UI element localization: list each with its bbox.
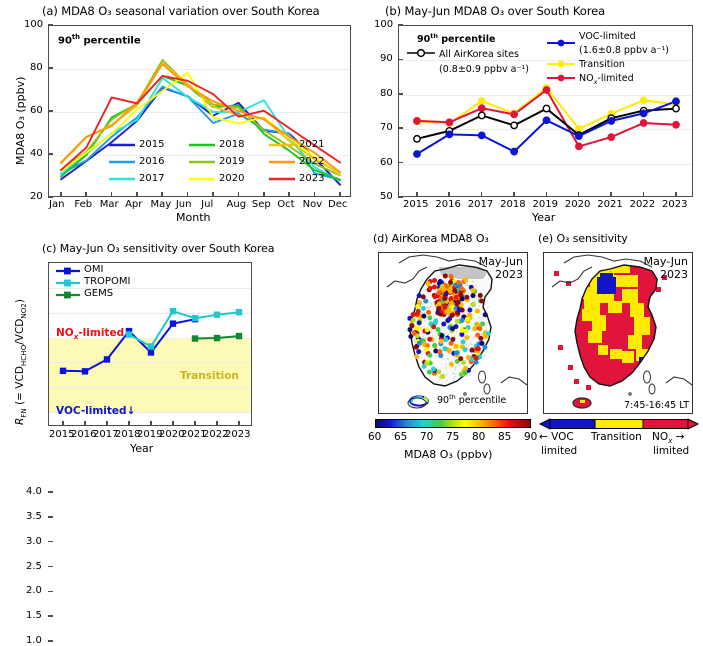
- panel-b-xtick: 2016: [435, 199, 460, 210]
- panel-b-ytick: 90: [380, 53, 393, 64]
- legend-label-tropomi: TROPOMI: [84, 276, 130, 287]
- panel-a-xtick: Mar: [100, 199, 119, 210]
- panel-c-xtick-mark: [194, 421, 196, 426]
- panel-e-colorbar: [540, 419, 698, 429]
- panel-c-xtick-mark: [62, 421, 64, 426]
- panel-a-ytick-mark: [48, 24, 53, 26]
- panel-b-title: (b) May-Jun MDA8 O₃ over South Korea: [385, 4, 605, 18]
- panel-b-xtick-mark: [675, 192, 677, 197]
- panel-a-xtick-mark: [60, 192, 62, 197]
- panel-c-xtick-mark: [150, 421, 152, 426]
- panel-c-ytick-mark: [48, 566, 53, 568]
- panel-e-colorbar-left-label2: limited: [541, 445, 577, 457]
- panel-b-xtick: 2018: [500, 199, 525, 210]
- panel-a-ytick-mark: [48, 196, 53, 198]
- panel-c-ytick: 2.5: [26, 561, 42, 572]
- legend-label-2023: 2023: [299, 173, 324, 184]
- panel-b-xtick: 2022: [630, 199, 655, 210]
- panel-d-colorbar-tick: 65: [394, 431, 407, 443]
- panel-a-xtick: Jun: [176, 199, 192, 210]
- legend-label-gems: GEMS: [84, 288, 113, 299]
- panel-d-map: May-Jun 2023 90th percentile: [378, 252, 528, 414]
- panel-a-ytick: 100: [24, 19, 43, 30]
- panel-e-colorbar-right-label: NOx →: [652, 431, 684, 445]
- panel-c-xtick-mark: [216, 421, 218, 426]
- panel-c-ylabel: RFN (= VCDHCHO/VCDNO2): [14, 299, 28, 425]
- panel-d-period: May-Jun: [479, 255, 523, 268]
- panel-a-ytick-mark: [48, 67, 53, 69]
- panel-d-inset-label: 90th percentile: [437, 393, 506, 406]
- panel-a-xtick-mark: [85, 192, 87, 197]
- panel-c-xlabel: Year: [130, 442, 153, 455]
- legend-label-2015: 2015: [139, 139, 164, 150]
- panel-a-title: (a) MDA8 O₃ seasonal variation over Sout…: [42, 4, 320, 18]
- panel-a-xtick: May: [150, 199, 171, 210]
- panel-a-xlabel: Month: [176, 211, 210, 224]
- panel-c-ytick: 2.0: [26, 585, 42, 596]
- panel-b-xtick-mark: [546, 192, 548, 197]
- panel-c-xtick-mark: [128, 421, 130, 426]
- panel-a-xtick: Aug: [227, 199, 247, 210]
- panel-b-ytick: 50: [380, 191, 393, 202]
- panel-d-colorbar-tick: 80: [472, 431, 485, 443]
- panel-c-plot-area: NOx-limited↑ VOC-limited↓ Transition OMI…: [48, 262, 252, 426]
- panel-e-colorbar-mid-label: Transition: [591, 431, 642, 443]
- panel-a-ytick: 20: [30, 191, 43, 202]
- panel-d: (d) AirKorea MDA8 O₃ May-Jun 2023 90th p…: [370, 230, 535, 469]
- panel-b-ytick: 70: [380, 122, 393, 133]
- panel-a-xtick-mark: [288, 192, 290, 197]
- panel-a-ytick: 40: [30, 148, 43, 159]
- panel-d-colorbar-tick: 70: [420, 431, 433, 443]
- panel-d-year: 2023: [495, 268, 523, 281]
- panel-b-xtick-mark: [578, 192, 580, 197]
- panel-b-ytick-mark: [398, 162, 403, 164]
- legend-label-2022: 2022: [299, 156, 324, 167]
- panel-a-xtick: Oct: [277, 199, 294, 210]
- panel-b-xtick-mark: [448, 192, 450, 197]
- panel-b-xtick-mark: [610, 192, 612, 197]
- legend-label-2021: 2021: [299, 139, 324, 150]
- panel-e-colorbar-right-label2: limited: [653, 445, 689, 457]
- panel-a-xtick: Dec: [328, 199, 347, 210]
- panel-a-xtick-mark: [111, 192, 113, 197]
- panel-b-plot-area: 90th percentile All AirKorea sites (0.8±…: [398, 25, 693, 197]
- panel-c-xtick-mark: [84, 421, 86, 426]
- panel-c-xtick-mark: [172, 421, 174, 426]
- panel-b-xtick: 2021: [597, 199, 622, 210]
- legend-label-2019: 2019: [219, 156, 244, 167]
- panel-d-colorbar-tick: 60: [368, 431, 381, 443]
- panel-c-ytick: 3.0: [26, 536, 42, 547]
- panel-a-xtick-mark: [161, 192, 163, 197]
- panel-a-xtick-mark: [238, 192, 240, 197]
- panel-b-lines: [399, 26, 694, 198]
- panel-c-ytick: 4.0: [26, 486, 42, 497]
- panel-c-ytick-mark: [48, 640, 53, 642]
- panel-a-xtick-mark: [263, 192, 265, 197]
- panel-a-plot-area: 90th percentile 2015 2016 2017 2018 2019…: [48, 25, 351, 197]
- panel-b-ytick: 100: [374, 19, 393, 30]
- panel-b-xtick: 2017: [468, 199, 493, 210]
- panel-c-ytick-mark: [48, 541, 53, 543]
- legend-label-2017: 2017: [139, 173, 164, 184]
- panel-b-ytick-mark: [398, 127, 403, 129]
- panel-c-ytick: 1.0: [26, 635, 42, 646]
- panel-a-ytick-mark: [48, 153, 53, 155]
- panel-e-colorbar-left-label: ← VOC: [539, 431, 574, 443]
- panel-a-xtick: Jan: [49, 199, 64, 210]
- panel-e-title: (e) O₃ sensitivity: [538, 232, 628, 245]
- panel-b: (b) May-Jun MDA8 O₃ over South Korea 90t…: [360, 0, 703, 230]
- panel-c-xtick: 2023: [225, 429, 250, 440]
- panel-b-xtick: 2015: [403, 199, 428, 210]
- panel-e-period: May-Jun: [644, 255, 688, 268]
- panel-a-xtick: Apr: [125, 199, 142, 210]
- panel-b-xtick-mark: [416, 192, 418, 197]
- panel-b-ytick-mark: [398, 196, 403, 198]
- panel-a-xtick: Feb: [74, 199, 92, 210]
- panel-b-ytick: 60: [380, 157, 393, 168]
- legend-label-2020: 2020: [219, 173, 244, 184]
- panel-b-xtick: 2019: [533, 199, 558, 210]
- panel-d-title: (d) AirKorea MDA8 O₃: [373, 232, 489, 245]
- panel-c-ytick-mark: [48, 615, 53, 617]
- panel-b-xtick-mark: [513, 192, 515, 197]
- panel-a-ytick: 60: [30, 105, 43, 116]
- panel-c-ytick: 1.5: [26, 610, 42, 621]
- panel-b-ytick-mark: [398, 24, 403, 26]
- panel-c-xtick-mark: [238, 421, 240, 426]
- panel-c-ytick-mark: [48, 516, 53, 518]
- legend-label-2016: 2016: [139, 156, 164, 167]
- panel-d-colorbar: [375, 419, 531, 428]
- panel-a-xtick-mark: [339, 192, 341, 197]
- panel-a-xtick-mark: [187, 192, 189, 197]
- legend-label-2018: 2018: [219, 139, 244, 150]
- panel-a-ylabel: MDA8 O₃ (ppbv): [14, 77, 27, 165]
- panel-a-legend: 2015 2016 2017 2018 2019 2020 2021 2022 …: [109, 139, 344, 191]
- panel-a-xtick-mark: [314, 192, 316, 197]
- legend-label-omi: OMI: [84, 264, 103, 275]
- panel-e-year: 2023: [660, 268, 688, 281]
- panel-c-ytick-mark: [48, 591, 53, 593]
- panel-e: (e) O₃ sensitivity May-Jun 2023 7:45-16:…: [535, 230, 703, 469]
- panel-b-xtick-mark: [481, 192, 483, 197]
- panel-c-title: (c) May-Jun O₃ sensitivity over South Ko…: [42, 242, 274, 255]
- panel-a: (a) MDA8 O₃ seasonal variation over Sout…: [0, 0, 360, 230]
- panel-c-ytick: 3.5: [26, 511, 42, 522]
- panel-b-ytick-mark: [398, 93, 403, 95]
- panel-d-colorbar-label: MDA8 O₃ (ppbv): [404, 448, 492, 461]
- panel-e-map: May-Jun 2023 7:45-16:45 LT: [543, 252, 693, 414]
- panel-b-xlabel: Year: [532, 211, 555, 224]
- panel-a-xtick: Nov: [303, 199, 323, 210]
- panel-c-xtick-mark: [106, 421, 108, 426]
- panel-a-ytick-mark: [48, 110, 53, 112]
- panel-a-xtick: Jul: [201, 199, 213, 210]
- panel-a-xtick-mark: [136, 192, 138, 197]
- panel-b-xtick-mark: [643, 192, 645, 197]
- panel-a-xtick: Sep: [252, 199, 271, 210]
- panel-a-ytick: 80: [30, 62, 43, 73]
- panel-e-time-label: 7:45-16:45 LT: [624, 400, 689, 411]
- panel-b-xtick: 2023: [662, 199, 687, 210]
- panel-d-colorbar-tick: 85: [498, 431, 511, 443]
- panel-b-xtick: 2020: [565, 199, 590, 210]
- panel-c-ytick-mark: [48, 491, 53, 493]
- panel-b-ytick-mark: [398, 59, 403, 61]
- panel-a-xtick-mark: [212, 192, 214, 197]
- panel-d-colorbar-tick: 75: [446, 431, 459, 443]
- panel-b-ytick: 80: [380, 88, 393, 99]
- panel-c: (c) May-Jun O₃ sensitivity over South Ko…: [0, 230, 270, 469]
